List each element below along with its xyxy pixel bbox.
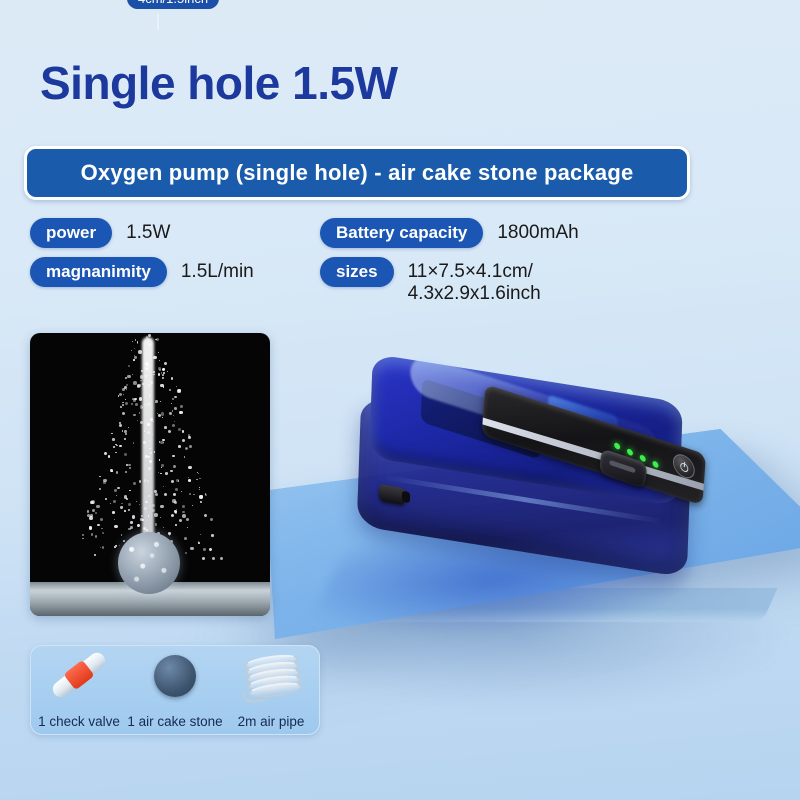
spec-label-flow: magnanimity (30, 257, 167, 287)
spec-row-2: magnanimity 1.5L/min sizes 11×7.5×4.1cm/… (30, 257, 730, 305)
air-stone-icon (154, 655, 196, 697)
air-pipe-coil-icon (243, 651, 298, 700)
accessories-panel: 1 check valve 1 air cake stone 2m air pi… (30, 645, 320, 735)
led-2 (627, 448, 633, 457)
spec-size: sizes 11×7.5×4.1cm/ 4.3x2.9x1.6inch (320, 257, 541, 305)
product-promo-image: 1800mAh (0, 0, 800, 800)
accessory-label-2: 1 air cake stone (127, 714, 223, 729)
spec-label-size: sizes (320, 257, 394, 287)
coil-tail (242, 689, 265, 704)
product-name-banner: Oxygen pump (single hole) - air cake sto… (24, 146, 690, 200)
spec-label-battery: Battery capacity (320, 218, 483, 248)
spec-value-size-line2: 4.3x2.9x1.6inch (408, 283, 541, 305)
oxygen-pump-device: 1800mAh (345, 370, 705, 585)
led-1 (614, 442, 620, 451)
accessory-label-1: 1 check valve (31, 714, 127, 729)
accessory-air-pipe (223, 646, 319, 704)
spec-value-battery: 1800mAh (497, 218, 578, 244)
spec-value-size: 11×7.5×4.1cm/ 4.3x2.9x1.6inch (408, 257, 541, 305)
air-stone-demo-photo (30, 333, 270, 616)
spec-value-flow: 1.5L/min (181, 257, 254, 283)
stone-size-badge: 4cm/1.5inch (127, 0, 219, 9)
spec-list: power 1.5W Battery capacity 1800mAh magn… (30, 218, 730, 314)
accessory-air-stone (127, 646, 223, 704)
accessory-labels: 1 check valve 1 air cake stone 2m air pi… (31, 714, 319, 729)
capacity-print: 1800mAh (482, 408, 494, 454)
accessory-label-3: 2m air pipe (223, 714, 319, 729)
accessory-icons (31, 646, 319, 704)
spec-power: power 1.5W (30, 218, 320, 248)
led-4 (652, 460, 658, 469)
page-title: Single hole 1.5W (40, 56, 398, 110)
badge-connector-line (157, 14, 159, 30)
product-name-text: Oxygen pump (single hole) - air cake sto… (81, 160, 634, 186)
spec-label-power: power (30, 218, 112, 248)
spec-battery: Battery capacity 1800mAh (320, 218, 579, 248)
spec-value-size-line1: 11×7.5×4.1cm/ (408, 261, 533, 282)
check-valve-icon (50, 650, 109, 701)
spec-row-1: power 1.5W Battery capacity 1800mAh (30, 218, 730, 248)
accessory-check-valve (31, 646, 127, 704)
power-icon (678, 458, 690, 474)
spec-flow: magnanimity 1.5L/min (30, 257, 320, 287)
spec-value-power: 1.5W (126, 218, 170, 244)
air-stone-in-photo (118, 532, 180, 594)
bubble-jet-column (142, 337, 154, 552)
